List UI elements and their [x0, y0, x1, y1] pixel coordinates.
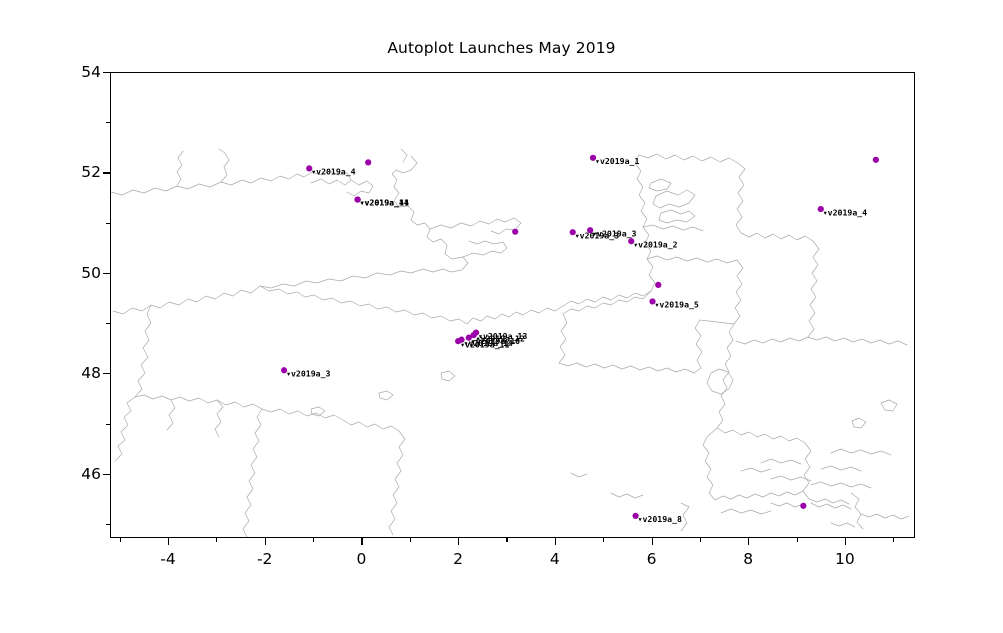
x-axis-minor-tick — [216, 538, 217, 542]
scatter-point-label: ▾v2019a_11 — [460, 339, 509, 349]
y-axis-tick-label: 46 — [81, 465, 101, 483]
x-axis-minor-tick — [893, 538, 894, 542]
page-title: Autoplot Launches May 2019 — [0, 39, 1003, 57]
scatter-point-label: ▾v2019a_8 — [638, 514, 682, 524]
y-axis-tick — [103, 474, 110, 475]
scatter-point-label: ▾v2019a_5 — [655, 300, 699, 310]
y-axis-tick — [103, 273, 110, 274]
x-axis-tick — [265, 538, 266, 545]
axes-frame: ▾v2019a_4▾v2019a_44▾v2019a_14▾v2019a_11▾… — [110, 72, 915, 538]
x-axis-tick-label: 6 — [647, 550, 657, 568]
x-axis-tick-label: 0 — [356, 550, 366, 568]
x-axis-tick — [652, 538, 653, 545]
scatter-marker — [800, 503, 806, 509]
x-axis-tick-label: 4 — [550, 550, 560, 568]
x-axis-minor-tick — [506, 538, 507, 542]
y-axis-tick-label: 52 — [81, 163, 101, 181]
matplotlib-figure: Autoplot Launches May 2019 — [0, 0, 1003, 633]
x-axis-minor-tick — [313, 538, 314, 542]
scatter-point-label: ▾v2019a_3 — [286, 368, 330, 378]
x-axis-minor-tick — [700, 538, 701, 542]
x-axis-tick-label: -4 — [160, 550, 175, 568]
y-axis-tick — [103, 72, 110, 73]
scatter-point-label: ▾v2019a_2 — [633, 239, 677, 249]
x-axis-minor-tick — [120, 538, 121, 542]
scatter-point-label: ▾v2019a_4 — [823, 207, 867, 217]
x-axis-tick-label: 8 — [743, 550, 753, 568]
y-axis-minor-tick — [106, 424, 110, 425]
x-axis-tick — [458, 538, 459, 545]
scatter-point-label: ▾v2019a_3 — [592, 228, 636, 238]
x-axis-tick-label: 10 — [835, 550, 855, 568]
plot-axes: ▾v2019a_4▾v2019a_44▾v2019a_14▾v2019a_11▾… — [110, 72, 915, 538]
x-axis-minor-tick — [603, 538, 604, 542]
y-axis-tick-label: 50 — [81, 264, 101, 282]
x-axis-minor-tick — [410, 538, 411, 542]
scatter-marker — [365, 159, 371, 165]
y-axis-tick-label: 54 — [81, 63, 101, 81]
scatter-point-label: ▾v2019a_4 — [311, 167, 355, 177]
y-axis-minor-tick — [106, 122, 110, 123]
y-axis-tick — [103, 373, 110, 374]
scatter-point-label: ▾v2019a_1 — [595, 156, 639, 166]
y-axis-minor-tick — [106, 524, 110, 525]
scatter-point-label: ▾v2019a_11 — [360, 198, 409, 208]
scatter-points-layer: ▾v2019a_4▾v2019a_44▾v2019a_14▾v2019a_11▾… — [111, 73, 915, 538]
y-axis-minor-tick — [106, 223, 110, 224]
x-axis-tick-label: -2 — [257, 550, 272, 568]
scatter-marker — [512, 229, 518, 235]
x-axis-tick — [361, 538, 362, 545]
scatter-marker — [655, 282, 661, 288]
x-axis-tick — [748, 538, 749, 545]
x-axis-minor-tick — [797, 538, 798, 542]
scatter-marker — [873, 157, 879, 163]
x-axis-tick — [555, 538, 556, 545]
y-axis-minor-tick — [106, 323, 110, 324]
x-axis-tick-label: 2 — [453, 550, 463, 568]
y-axis-tick — [103, 172, 110, 173]
x-axis-tick — [168, 538, 169, 545]
x-axis-tick — [845, 538, 846, 545]
y-axis-tick-label: 48 — [81, 364, 101, 382]
